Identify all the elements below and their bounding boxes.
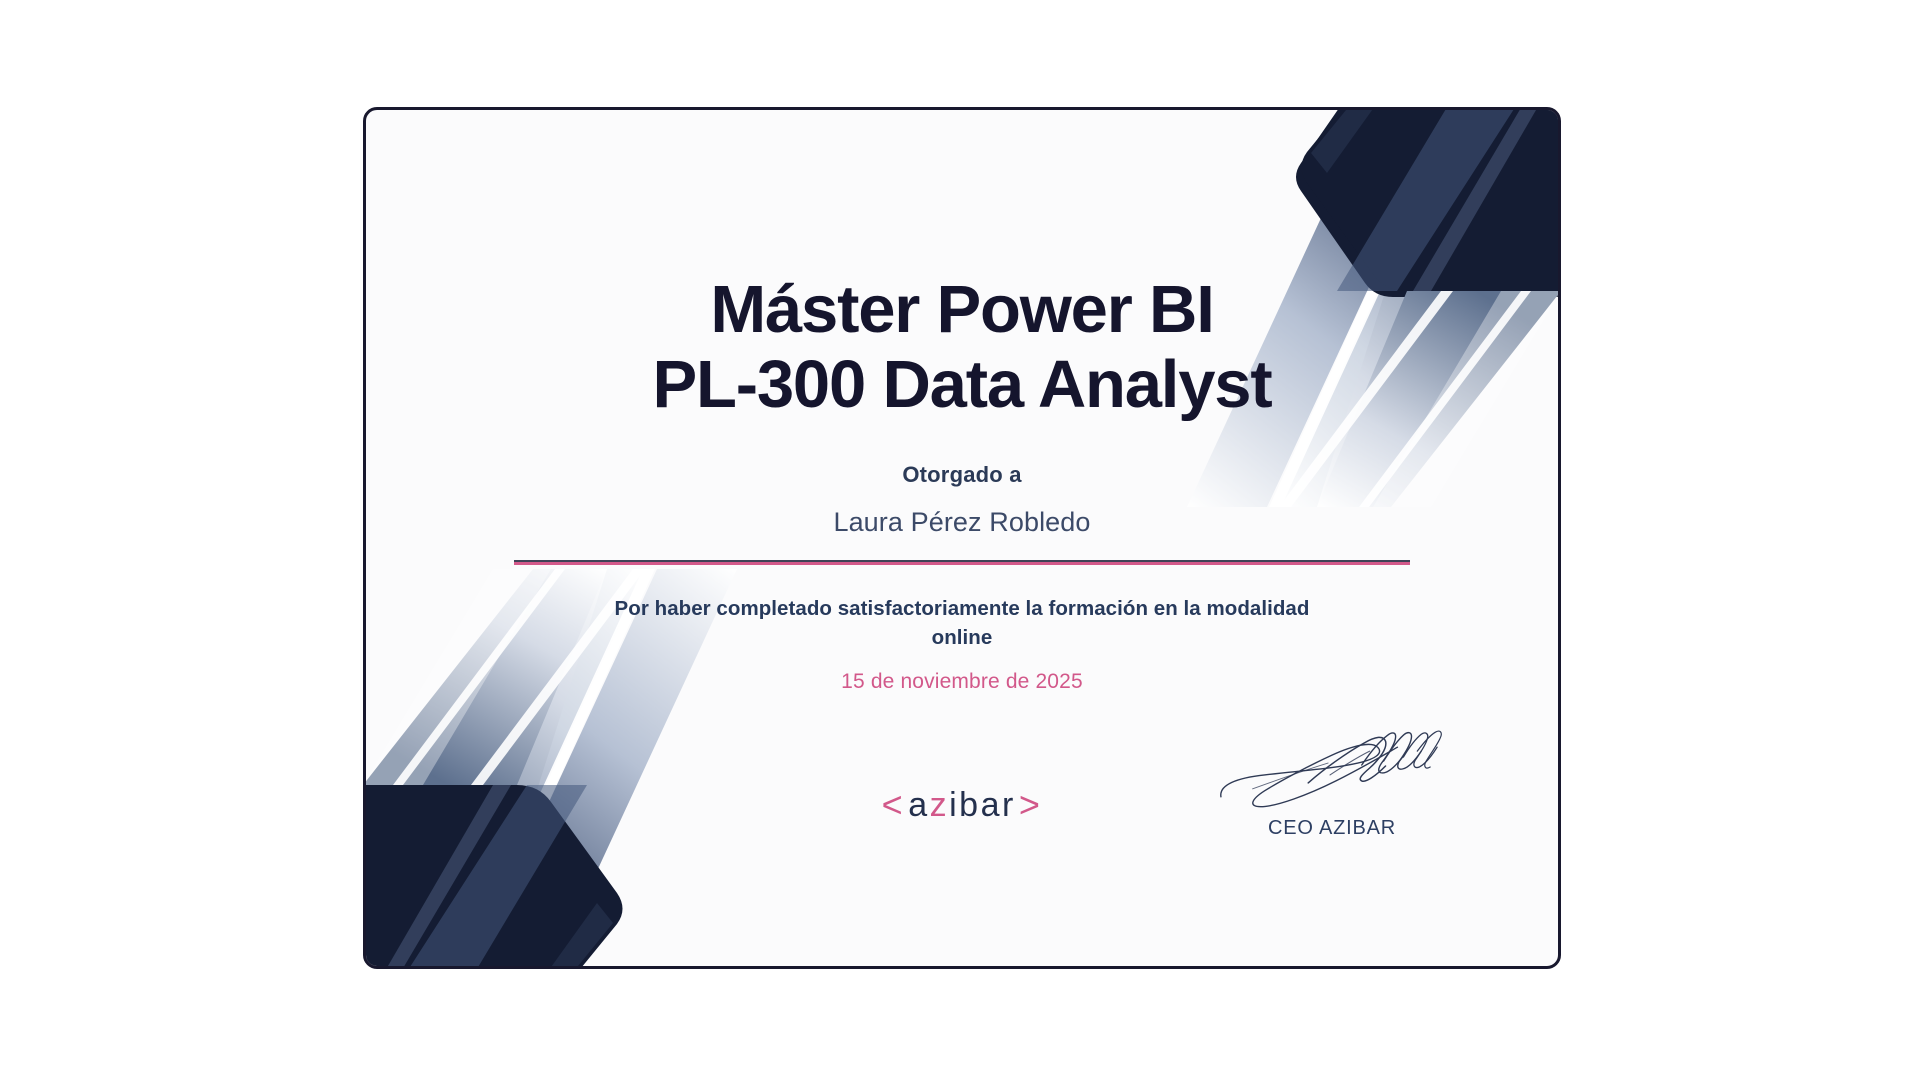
recipient-name: Laura Pérez Robledo — [833, 507, 1090, 538]
signature-title: CEO AZIBAR — [1202, 817, 1462, 840]
awarded-to-label: Otorgado a — [902, 462, 1021, 488]
logo-close-bracket: > — [1016, 784, 1046, 826]
divider — [514, 560, 1410, 565]
certificate-date: 15 de noviembre de 2025 — [841, 670, 1083, 694]
logo-text-part-2: ibar — [949, 786, 1016, 825]
certificate-card: Máster Power BI PL-300 Data Analyst Otor… — [363, 107, 1561, 969]
logo-open-bracket: < — [879, 784, 909, 826]
logo-accent-letter: z — [930, 786, 950, 825]
logo-text-part-1: a — [908, 786, 929, 825]
divider-accent-line — [514, 562, 1410, 565]
handwritten-signature-icon — [1213, 723, 1451, 815]
title-line-2: PL-300 Data Analyst — [532, 347, 1392, 422]
title-line-1: Máster Power BI — [532, 272, 1392, 347]
certificate-footer: < a z ibar > — [366, 698, 1558, 848]
page-canvas: Máster Power BI PL-300 Data Analyst Otor… — [0, 0, 1920, 1080]
signature-block: CEO AZIBAR — [1202, 723, 1462, 840]
azibar-logo: < a z ibar > — [879, 784, 1046, 826]
certificate-body-text: Por haber completado satisfactoriamente … — [592, 594, 1332, 652]
certificate-title: Máster Power BI PL-300 Data Analyst — [532, 272, 1392, 422]
